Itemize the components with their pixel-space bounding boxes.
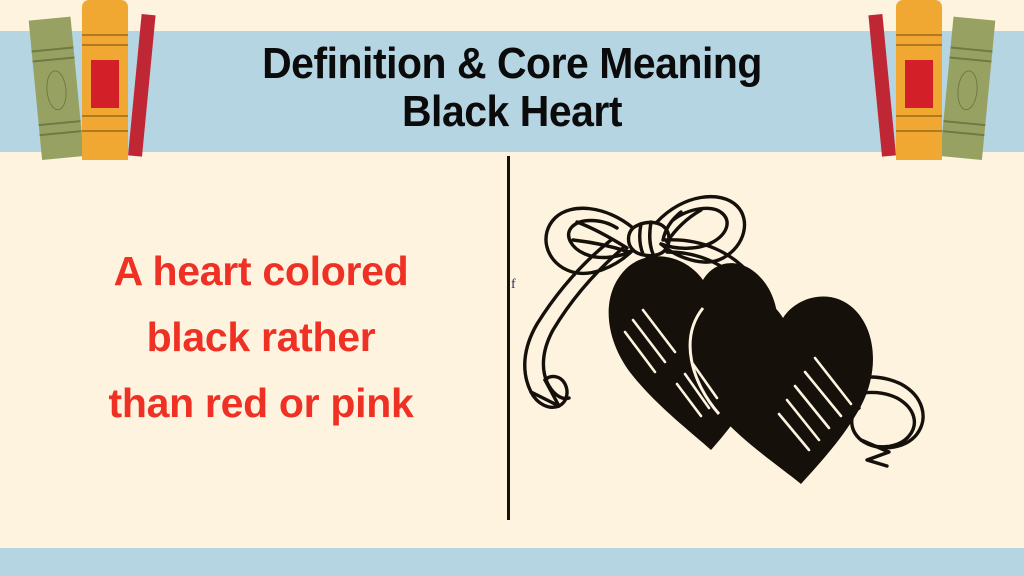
footer-band — [0, 548, 1024, 576]
page-title-line-1: Definition & Core Meaning — [36, 40, 988, 88]
definition-line-2: black rather — [30, 304, 492, 370]
definition-line-3: than red or pink — [30, 370, 492, 436]
slide-canvas: Definition & Core Meaning Black Heart A … — [0, 0, 1024, 576]
book-rule — [82, 34, 128, 36]
vertical-divider — [507, 156, 510, 520]
book-rule — [896, 34, 942, 36]
page-title: Definition & Core Meaning Black Heart — [36, 40, 988, 136]
definition-line-1: A heart colored — [30, 238, 492, 304]
page-title-line-2: Black Heart — [36, 88, 988, 136]
definition-text: A heart colored black rather than red or… — [30, 238, 492, 436]
black-hearts-illustration — [515, 160, 945, 510]
heart-right — [690, 292, 873, 484]
hearts-svg — [515, 160, 945, 510]
